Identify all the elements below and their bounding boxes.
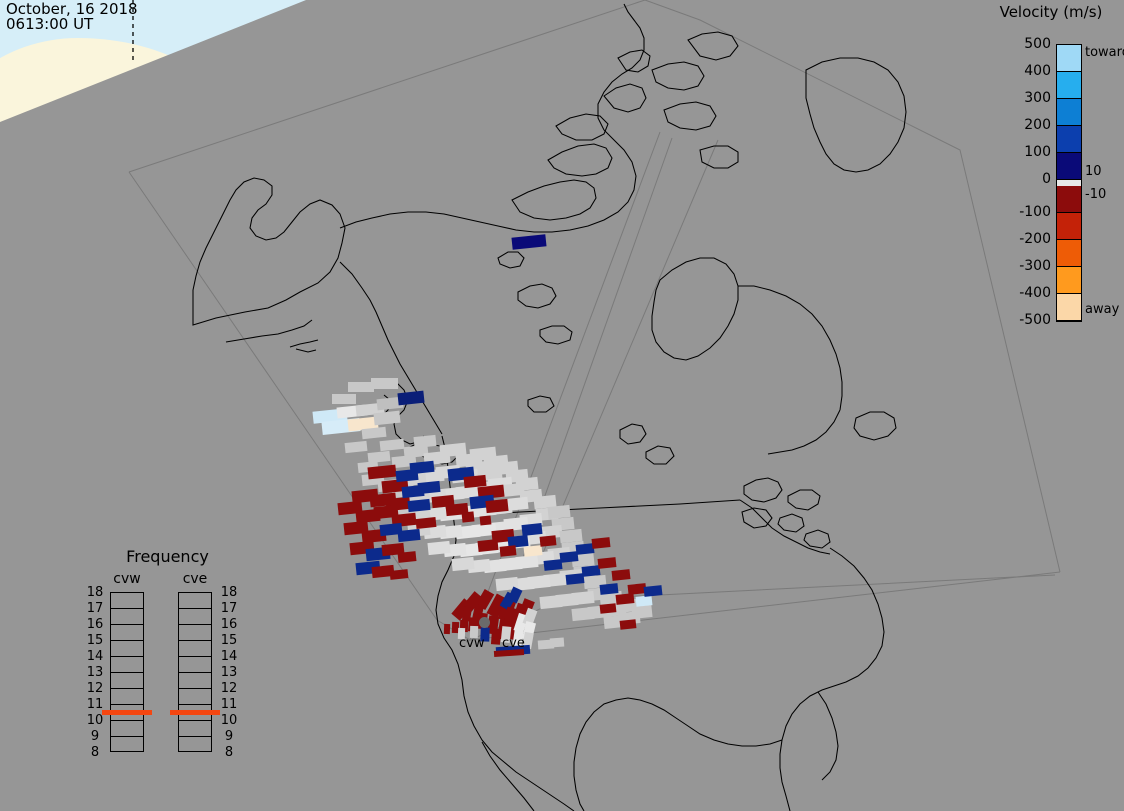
frequency-scale-rule	[110, 736, 144, 737]
radar-cell	[600, 583, 619, 595]
radar-cell	[417, 481, 440, 494]
radar-cell	[598, 557, 617, 569]
velocity-tick: -100	[975, 205, 1051, 219]
radar-cell	[540, 535, 557, 547]
radar-cell	[521, 523, 542, 536]
frequency-scale-rule	[178, 704, 212, 705]
frequency-scale-rule	[110, 672, 144, 673]
radar-site-marker	[479, 617, 490, 628]
radar-cell	[416, 517, 437, 529]
frequency-scale-label: 8	[218, 746, 240, 759]
frequency-column-header-cve: cve	[166, 572, 224, 587]
radar-site-label-cve: cve	[502, 637, 525, 650]
frequency-scale-label: 18	[218, 586, 240, 599]
velocity-band	[1057, 186, 1081, 213]
frequency-marker-cve	[170, 710, 220, 715]
frequency-legend-title: Frequency	[85, 548, 250, 565]
frequency-scale-label: 11	[218, 698, 240, 711]
frequency-scale-label: 17	[84, 602, 106, 615]
frequency-scale-rule	[110, 624, 144, 625]
velocity-toward-label: toward	[1085, 46, 1124, 59]
velocity-tick: -300	[975, 259, 1051, 273]
frequency-legend: Frequency cvw18171615141312111098cve1817…	[85, 548, 250, 788]
radar-cell	[631, 605, 652, 619]
frequency-scale-label: 9	[218, 730, 240, 743]
radar-cell	[413, 435, 436, 448]
radar-cell	[332, 394, 356, 404]
velocity-tick: 400	[975, 64, 1051, 78]
radar-cell	[612, 569, 631, 581]
radar-cell	[600, 603, 617, 614]
frequency-scale-rule	[110, 688, 144, 689]
radar-cell	[500, 545, 517, 557]
frequency-scale-rule	[178, 736, 212, 737]
frequency-scale-rule	[110, 656, 144, 657]
radar-cell	[373, 411, 400, 426]
velocity-legend-title: Velocity (m/s)	[983, 4, 1119, 20]
velocity-colorbar	[1056, 44, 1082, 322]
velocity-deadband-upper-label: 10	[1085, 165, 1102, 178]
velocity-tick: -200	[975, 232, 1051, 246]
radar-cell	[407, 499, 430, 512]
velocity-band	[1057, 240, 1081, 267]
radar-cell	[485, 499, 508, 513]
velocity-tick: 100	[975, 145, 1051, 159]
radar-cell	[592, 537, 611, 549]
frequency-scale-label: 16	[84, 618, 106, 631]
radar-cell	[380, 439, 405, 451]
radar-site-label-cvw: cvw	[459, 637, 484, 650]
frequency-marker-cvw	[102, 710, 152, 715]
radar-cell	[616, 593, 635, 605]
frequency-scale-label: 13	[84, 666, 106, 679]
frequency-scale-label: 12	[84, 682, 106, 695]
frequency-scale-label: 14	[218, 650, 240, 663]
velocity-tick: -500	[975, 313, 1051, 327]
velocity-band	[1057, 153, 1081, 180]
frequency-scale-label: 15	[218, 634, 240, 647]
velocity-tick: 300	[975, 91, 1051, 105]
radar-cell	[491, 628, 501, 645]
frequency-scale-label: 14	[84, 650, 106, 663]
radar-cell	[398, 551, 417, 563]
radar-cell	[397, 529, 420, 542]
velocity-band	[1057, 99, 1081, 126]
frequency-scale-rule	[110, 640, 144, 641]
velocity-band	[1057, 294, 1081, 321]
frequency-scale-rule	[178, 640, 212, 641]
radar-cell	[451, 557, 474, 571]
radar-cell	[427, 541, 450, 555]
frequency-scale-label: 17	[218, 602, 240, 615]
frequency-scale-rule	[178, 688, 212, 689]
frequency-scale-rule	[178, 672, 212, 673]
radar-cell	[620, 619, 637, 630]
frequency-column-header-cvw: cvw	[98, 572, 156, 587]
frequency-scale-rule	[110, 608, 144, 609]
frequency-scale-label: 8	[84, 746, 106, 759]
frequency-scale-rule	[178, 656, 212, 657]
radar-cell	[462, 511, 475, 522]
frequency-scale-rule	[178, 608, 212, 609]
velocity-band	[1057, 72, 1081, 99]
velocity-band	[1057, 213, 1081, 240]
velocity-legend: Velocity (m/s) 5004003002001000-100-200-…	[975, 0, 1124, 340]
radar-cell	[397, 391, 424, 406]
velocity-band	[1057, 126, 1081, 153]
radar-map-canvas: October, 16 2018 0613:00 UT	[0, 0, 1124, 811]
radar-cell	[644, 585, 663, 597]
velocity-band	[1057, 267, 1081, 294]
frequency-scale-label: 12	[218, 682, 240, 695]
frequency-scale-label: 10	[218, 714, 240, 727]
frequency-scale-rule	[110, 720, 144, 721]
radar-cell	[511, 234, 546, 249]
frequency-scale-label: 10	[84, 714, 106, 727]
radar-cell	[480, 515, 492, 525]
radar-cell	[362, 427, 387, 439]
radar-cell	[390, 569, 409, 580]
radar-cell	[345, 441, 368, 453]
radar-cell	[571, 607, 594, 621]
velocity-tick-labels: 5004003002001000-100-200-300-400-500	[975, 36, 1051, 326]
radar-cell	[371, 378, 398, 389]
radar-cell	[444, 624, 450, 634]
frequency-scale-label: 9	[84, 730, 106, 743]
velocity-band	[1057, 45, 1081, 72]
frequency-scale-label: 13	[218, 666, 240, 679]
frequency-scale-rule	[178, 624, 212, 625]
frequency-scale-label: 18	[84, 586, 106, 599]
frequency-scale-label: 15	[84, 634, 106, 647]
radar-cell	[550, 638, 565, 648]
velocity-away-label: away	[1085, 303, 1119, 316]
velocity-tick: 0	[975, 172, 1051, 186]
velocity-tick: 500	[975, 37, 1051, 51]
frequency-scale-rule	[178, 720, 212, 721]
velocity-deadband-lower-label: -10	[1085, 188, 1106, 201]
velocity-tick: -400	[975, 286, 1051, 300]
velocity-tick: 200	[975, 118, 1051, 132]
radar-cell	[539, 595, 562, 609]
frequency-scale-rule	[110, 704, 144, 705]
radar-cell	[367, 465, 396, 480]
frequency-scale-label: 16	[218, 618, 240, 631]
